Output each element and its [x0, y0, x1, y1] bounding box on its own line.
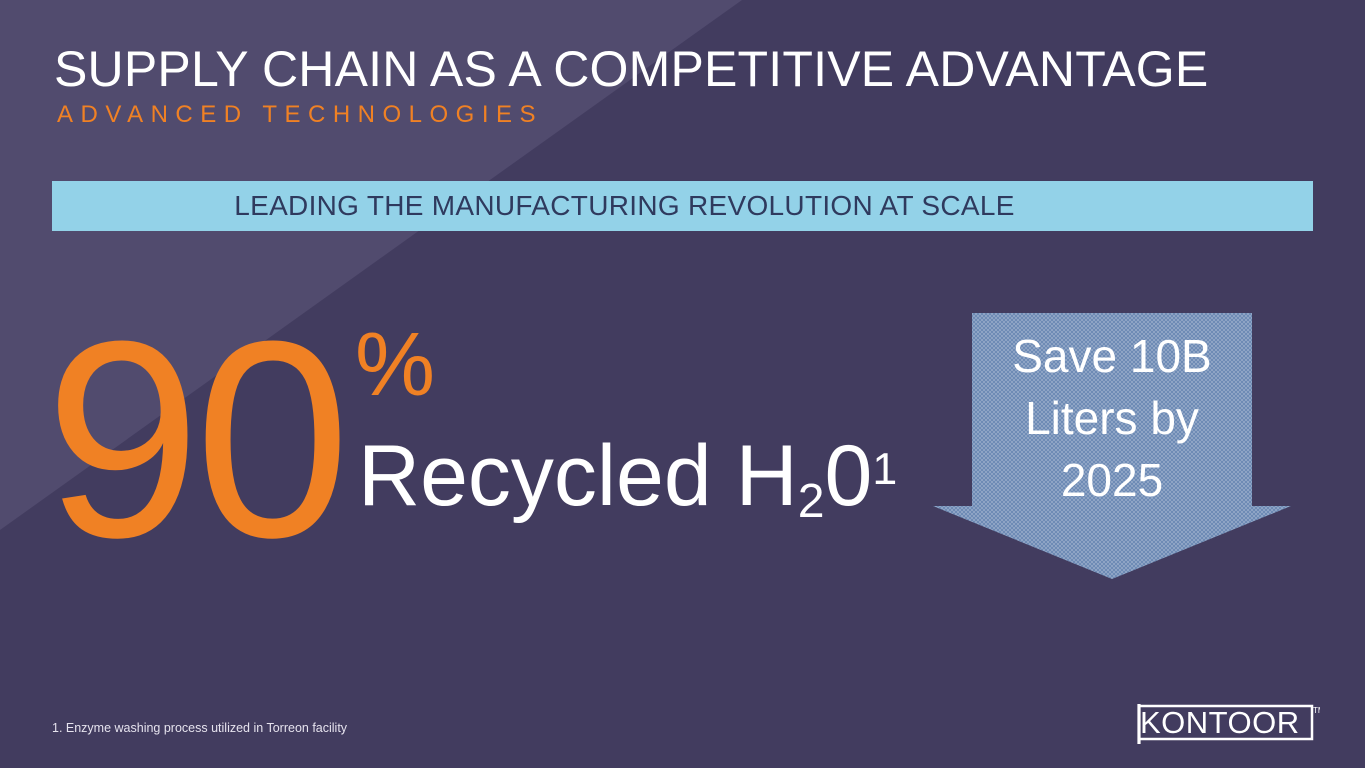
- statistic-label-subscript: 2: [798, 474, 825, 528]
- trademark-symbol: TM: [1313, 706, 1320, 715]
- down-arrow-callout: Save 10B Liters by 2025: [933, 313, 1291, 579]
- statistic-label-prefix: Recycled H: [358, 428, 798, 524]
- statistic-label-superscript: 1: [872, 445, 897, 494]
- page-title: SUPPLY CHAIN AS A COMPETITIVE ADVANTAGE: [54, 40, 1208, 98]
- slide-canvas: SUPPLY CHAIN AS A COMPETITIVE ADVANTAGE …: [0, 0, 1365, 768]
- kontoor-logo: KONTOOR TM: [1130, 703, 1320, 745]
- page-subtitle: ADVANCED TECHNOLOGIES: [57, 100, 543, 130]
- callout-line-2: Liters by: [972, 387, 1252, 449]
- kontoor-logo-icon: KONTOOR TM: [1130, 703, 1320, 745]
- headline-banner-text: LEADING THE MANUFACTURING REVOLUTION AT …: [0, 190, 1255, 222]
- callout-line-1: Save 10B: [972, 325, 1252, 387]
- kontoor-wordmark: KONTOOR: [1140, 705, 1300, 740]
- callout-line-3: 2025: [972, 449, 1252, 511]
- statistic-number: 90: [45, 300, 344, 580]
- statistic-unit: %: [355, 320, 435, 410]
- statistic-label: Recycled H201: [358, 428, 897, 539]
- statistic-label-middle: 0: [825, 428, 873, 524]
- footnote: 1. Enzyme washing process utilized in To…: [52, 721, 347, 735]
- down-arrow-callout-text: Save 10B Liters by 2025: [972, 325, 1252, 511]
- headline-banner: LEADING THE MANUFACTURING REVOLUTION AT …: [52, 181, 1313, 231]
